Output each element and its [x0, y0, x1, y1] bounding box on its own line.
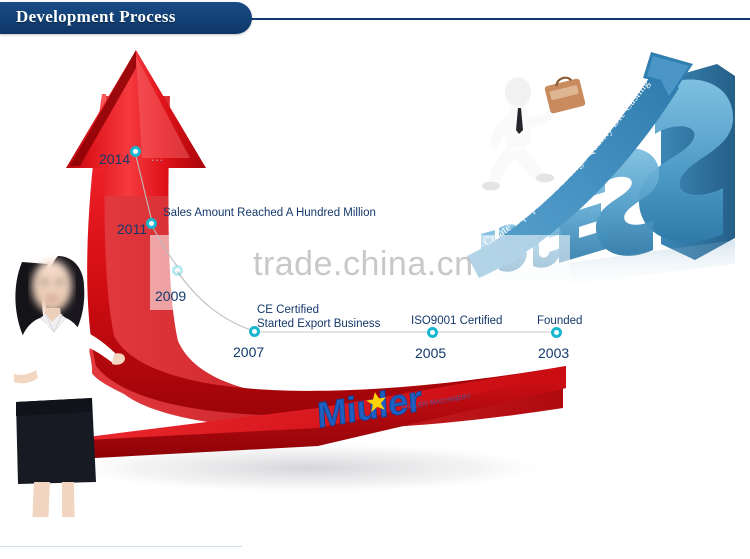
timeline-year-2007: 2007 [233, 344, 264, 360]
page-title: Development Process [16, 7, 176, 27]
header-bar: Development Process [0, 0, 750, 40]
timeline-marker-2005[interactable] [427, 327, 438, 338]
timeline-label-2007: CE Certified Started Export Business [257, 303, 380, 331]
timeline-label-2011: Sales Amount Reached A Hundred Million [163, 206, 376, 220]
success-3d-artwork: Create Equipment For High Quality Die Ca… [455, 38, 750, 303]
bottom-rule [0, 546, 242, 547]
timeline-label-2014: ... [151, 150, 164, 164]
timeline-year-2009: 2009 [155, 288, 186, 304]
timeline-marker-2003[interactable] [551, 327, 562, 338]
briefcase-icon [544, 76, 586, 114]
timeline-year-2014: 2014 [99, 151, 130, 167]
timeline-label-2005: ISO9001 Certified [411, 314, 502, 328]
timeline-marker-2014[interactable] [130, 146, 141, 157]
timeline-year-2003: 2003 [538, 345, 569, 361]
timeline-marker-2009[interactable] [172, 265, 183, 276]
businesswoman-presenter [0, 252, 125, 517]
timeline-label-2003: Founded [537, 314, 582, 328]
timeline-year-2005: 2005 [415, 345, 446, 361]
watermark-text: trade.china.cn [253, 245, 474, 284]
development-process-slide: Miuler MIULER MACHINERY [0, 0, 750, 559]
timeline-year-2011: 2011 [117, 221, 147, 237]
timeline-marker-2011[interactable] [146, 218, 157, 229]
header-rule [240, 18, 750, 20]
